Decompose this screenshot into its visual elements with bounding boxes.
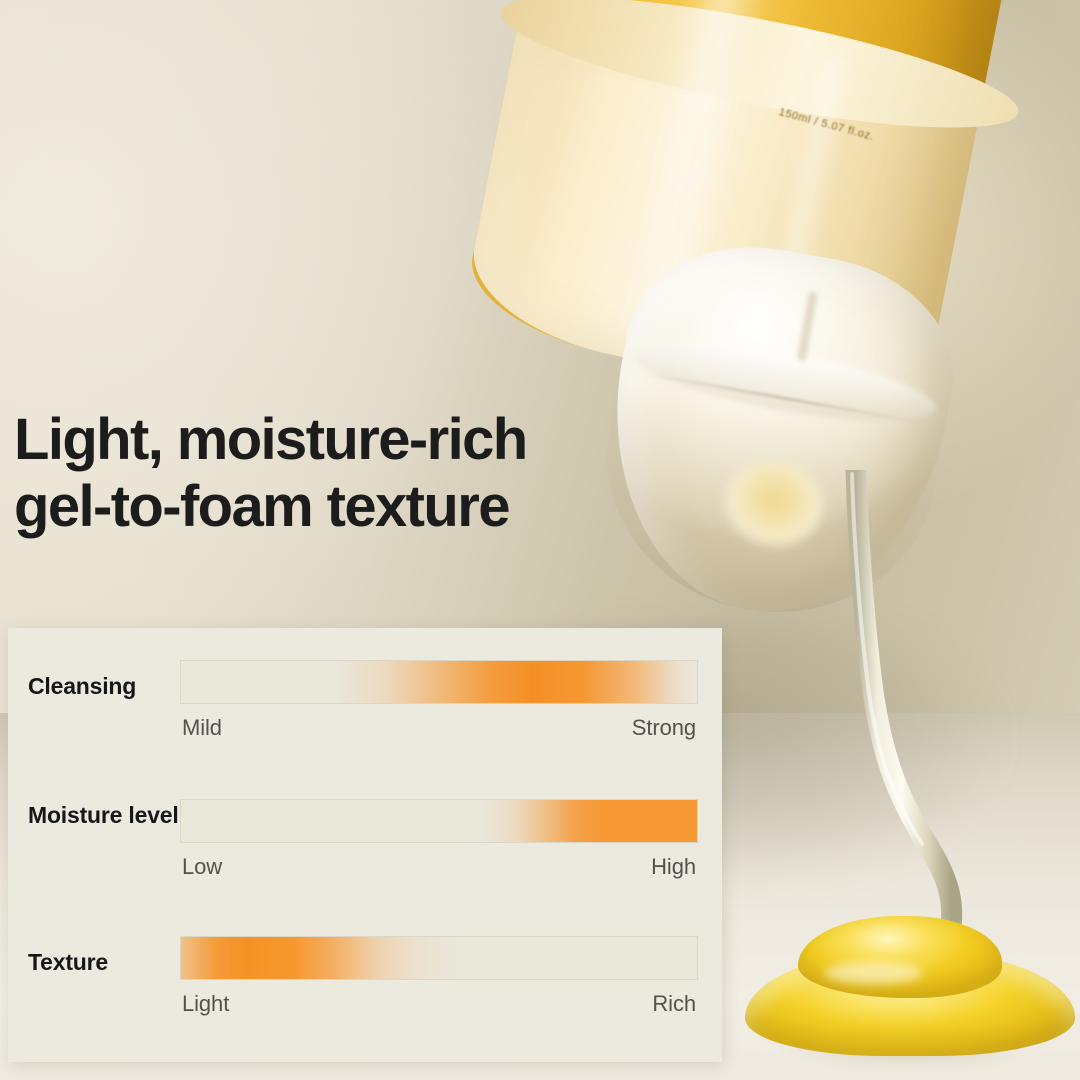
gel-blob-highlight: [824, 962, 923, 984]
spec-meter-wrap-cleansing: Mild Strong: [180, 660, 698, 741]
spec-panel: Cleansing Mild Strong Moisture level Low: [8, 628, 722, 1062]
scale-min-cleansing: Mild: [182, 715, 222, 741]
spec-row-texture: Texture Light Rich: [20, 936, 698, 1017]
scale-max-cleansing: Strong: [632, 715, 696, 741]
headline-line-1: Light, moisture-rich: [14, 406, 774, 473]
gel-blob: [745, 900, 1075, 1070]
meter-fill-moisture-level: [181, 800, 697, 842]
scale-max-moisture-level: High: [651, 854, 696, 880]
headline-line-2: gel-to-foam texture: [14, 473, 774, 540]
scale-min-moisture-level: Low: [182, 854, 222, 880]
spec-label-moisture-level: Moisture level: [20, 799, 180, 830]
spec-label-texture: Texture: [20, 936, 180, 977]
gel-strand: [760, 470, 1020, 970]
meter-fill-texture: [181, 937, 697, 979]
meter-scale-cleansing: Mild Strong: [180, 715, 698, 741]
meter-fill-cleansing: [181, 661, 697, 703]
meter-track-moisture-level: [180, 799, 698, 843]
spec-meter-wrap-moisture-level: Low High: [180, 799, 698, 880]
meter-scale-moisture-level: Low High: [180, 854, 698, 880]
gel-blob-top: [798, 916, 1003, 998]
meter-track-texture: [180, 936, 698, 980]
meter-scale-texture: Light Rich: [180, 991, 698, 1017]
spec-row-cleansing: Cleansing Mild Strong: [20, 660, 698, 741]
spec-row-moisture-level: Moisture level Low High: [20, 799, 698, 880]
spec-label-cleansing: Cleansing: [20, 660, 180, 701]
headline: Light, moisture-rich gel-to-foam texture: [14, 406, 774, 541]
meter-track-cleansing: [180, 660, 698, 704]
scale-min-texture: Light: [182, 991, 229, 1017]
product-marketing-image: 150ml / 5.07 fl.oz. Light,: [0, 0, 1080, 1080]
scale-max-texture: Rich: [652, 991, 696, 1017]
spec-meter-wrap-texture: Light Rich: [180, 936, 698, 1017]
